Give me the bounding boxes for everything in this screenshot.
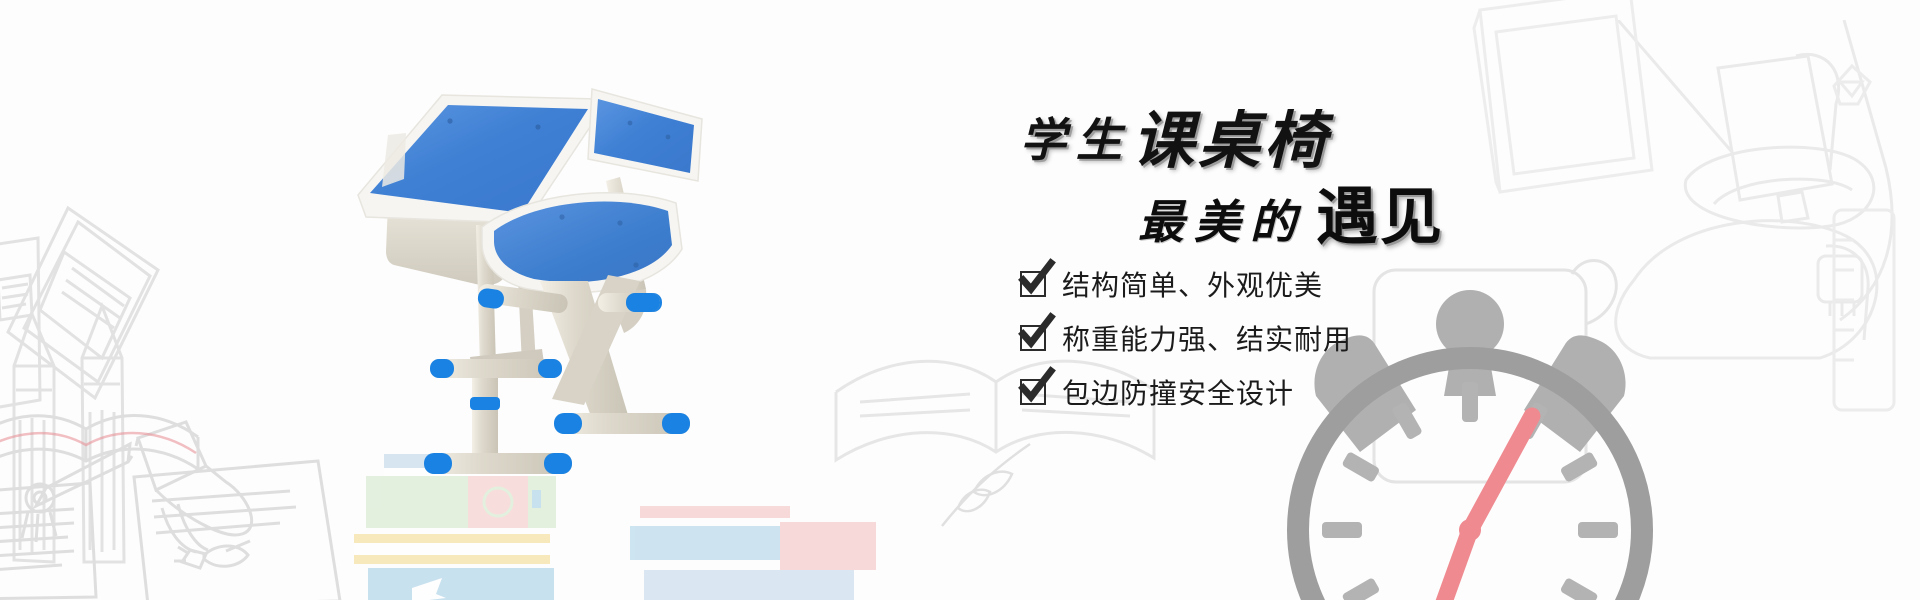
open-book-icon <box>0 375 200 600</box>
banner-copy: 学生课桌椅 最美的遇见 结构简单、外观优美 <box>1020 90 1580 429</box>
feature-label: 结构简单、外观优美 <box>1062 264 1323 304</box>
feature-label: 称重能力强、结实耐用 <box>1062 318 1352 358</box>
headline-prefix: 学生 <box>1020 113 1132 167</box>
headline-block: 学生课桌椅 最美的遇见 <box>1020 90 1580 255</box>
checkbox-checked-icon <box>1020 325 1046 351</box>
pencil-icon <box>6 300 206 590</box>
feature-list: 结构简单、外观优美 称重能力强、结实耐用 包边防撞安全设计 <box>1020 267 1580 409</box>
feature-label: 包边防撞安全设计 <box>1062 372 1294 412</box>
headline-line-2: 最美的遇见 <box>1138 166 1444 256</box>
ruler-icon <box>1820 200 1920 460</box>
subheadline-emphasis: 遇见 <box>1316 180 1444 253</box>
promo-banner: 学生课桌椅 最美的遇见 结构简单、外观优美 <box>0 0 1920 600</box>
feature-item: 包边防撞安全设计 <box>1020 375 1580 409</box>
notebook-stack-icon <box>0 110 280 410</box>
feature-item: 称重能力强、结实耐用 <box>1020 321 1580 355</box>
feature-item: 结构简单、外观优美 <box>1020 267 1580 301</box>
checkbox-checked-icon <box>1020 379 1046 405</box>
desk-lamp-icon <box>10 400 310 600</box>
subheadline-prefix: 最美的 <box>1138 195 1306 249</box>
checkbox-checked-icon <box>1020 271 1046 297</box>
student-desk-and-chair-photo <box>330 75 760 505</box>
open-book-icon <box>930 430 1050 540</box>
